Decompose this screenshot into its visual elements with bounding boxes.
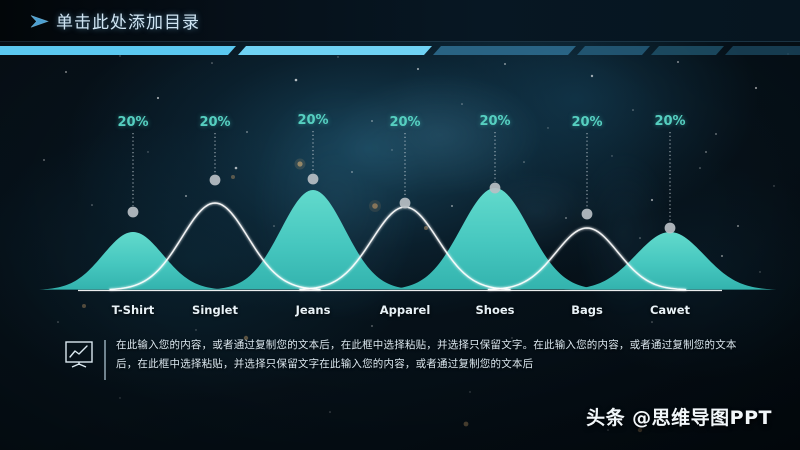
note-divider bbox=[104, 340, 106, 380]
value-label: 20% bbox=[654, 114, 685, 129]
watermark: 头条 @思维导图PPT bbox=[586, 403, 772, 430]
value-label: 20% bbox=[479, 114, 510, 129]
header-accent-stripe bbox=[0, 42, 800, 51]
value-label: 20% bbox=[199, 115, 230, 130]
value-label: 20% bbox=[571, 115, 602, 130]
note-block: 在此输入您的内容，或者通过复制您的文本后，在此框中选择粘贴，并选择只保留文字。在… bbox=[64, 336, 754, 380]
note-text: 在此输入您的内容，或者通过复制您的文本后，在此框中选择粘贴，并选择只保留文字。在… bbox=[116, 336, 754, 375]
value-label: 20% bbox=[389, 115, 420, 130]
category-label: Shoes bbox=[475, 303, 514, 317]
page-title: 单击此处添加目录 bbox=[56, 8, 200, 33]
category-label: T-Shirt bbox=[112, 303, 155, 317]
category-label: Apparel bbox=[380, 303, 431, 317]
title-bar: 单击此处添加目录 bbox=[0, 0, 800, 42]
vignette bbox=[0, 0, 800, 450]
presentation-chart-icon bbox=[64, 340, 94, 368]
category-label: Cawet bbox=[650, 303, 690, 317]
category-label: Bags bbox=[571, 303, 603, 317]
value-label: 20% bbox=[297, 113, 328, 128]
value-label: 20% bbox=[117, 115, 148, 130]
category-label: Jeans bbox=[296, 303, 331, 317]
category-label: Singlet bbox=[192, 303, 238, 317]
triangle-right-icon bbox=[30, 14, 50, 29]
slide-canvas: 单击此处添加目录 bbox=[0, 0, 800, 450]
